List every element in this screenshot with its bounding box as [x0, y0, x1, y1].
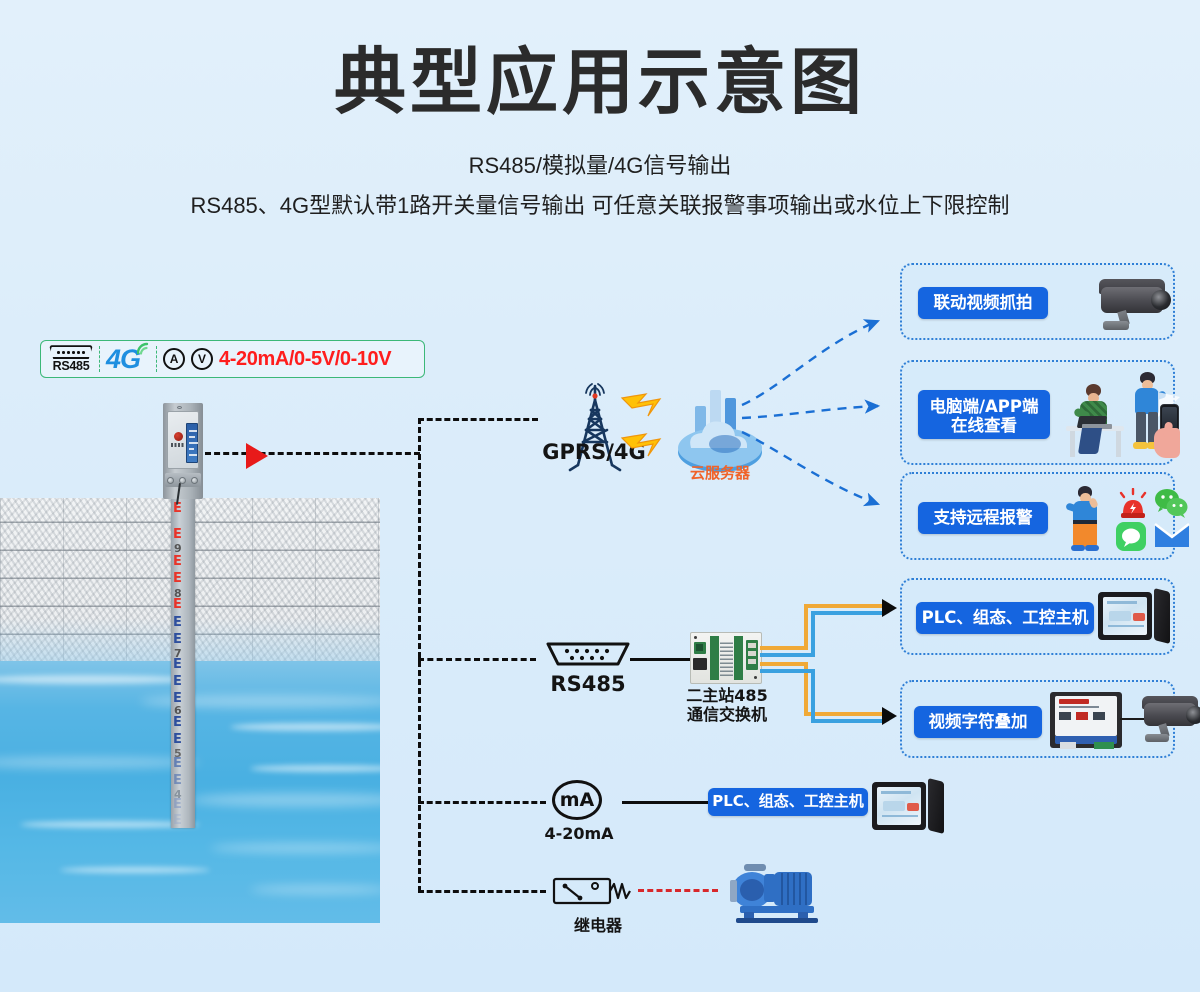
relay-symbol-icon — [552, 874, 644, 908]
switch-label-line2: 通信交换机 — [686, 705, 768, 724]
sensor-bolt-left — [167, 477, 174, 484]
cloud-to-panels-arrows — [740, 280, 915, 540]
badge-divider-1 — [99, 346, 100, 372]
inline-tag-plc-ma: PLC、组态、工控主机 — [708, 788, 868, 816]
branch-line-ma — [418, 801, 546, 804]
ma-label: 4-20mA — [538, 824, 620, 843]
wechat-icon — [1154, 488, 1188, 518]
person-phone-icon — [1124, 370, 1180, 462]
branch-line-gprs — [418, 418, 538, 421]
industrial-monitor-icon-2 — [872, 778, 958, 840]
signal-output-badge: RS485 4G A V 4-20mA/0-5V/0-10V — [40, 340, 425, 378]
person-calling-icon — [1062, 484, 1112, 556]
sensor-bolt-right — [191, 477, 198, 484]
rs485-connector-icon-large — [545, 640, 631, 670]
panel-tag-video-capture: 联动视频抓拍 — [918, 287, 1048, 319]
volt-icon: V — [191, 348, 213, 370]
sensor-brand-logo — [174, 432, 183, 441]
panel-remote-alarm[interactable]: 支持远程报警 — [900, 472, 1175, 560]
cctv-camera-icon-2 — [1140, 692, 1200, 748]
ma-to-plc-line — [622, 801, 708, 804]
branch-line-relay — [418, 890, 546, 893]
panel-video-capture[interactable]: 联动视频抓拍 — [900, 263, 1175, 340]
panel-tag-remote-alarm: 支持远程报警 — [918, 502, 1048, 534]
panel-video-osd[interactable]: 视频字符叠加 — [900, 680, 1175, 758]
rs485-node-label: RS485 — [545, 672, 631, 696]
rs485-badge-label: RS485 — [53, 360, 90, 373]
rs485-connector-icon: RS485 — [49, 345, 93, 373]
branch-line-rs485 — [418, 658, 536, 661]
sensor-brand-text — [171, 443, 185, 447]
panel-tag-pc-app-line2: 在线查看 — [918, 416, 1050, 435]
industrial-monitor-icon-1 — [1098, 588, 1178, 650]
relay-to-pump-line — [638, 889, 718, 892]
panel-tag-pc-app-line1: 电脑端/APP端 — [918, 397, 1050, 416]
osd-module-icon — [1050, 692, 1122, 750]
panel-tag-pc-app: 电脑端/APP端 在线查看 — [918, 390, 1050, 439]
ma-symbol-text: mA — [552, 780, 602, 820]
switch-label-line1: 二主站485 — [686, 686, 768, 705]
subtitle-line-1: RS485/模拟量/4G信号输出 — [0, 148, 1200, 180]
water-pump-icon — [722, 862, 832, 928]
red-flow-arrow — [246, 443, 268, 469]
sensor-to-trunk-line — [205, 452, 420, 455]
ma-symbol-icon: mA — [552, 780, 604, 822]
diagram-canvas: 典型应用示意图 RS485/模拟量/4G信号输出 RS485、4G型默认带1路开… — [0, 0, 1200, 992]
cable-arrow-plc — [882, 599, 897, 617]
cable-arrow-osd — [882, 707, 897, 725]
sms-icon — [1116, 522, 1148, 552]
cctv-camera-icon-1 — [1077, 275, 1172, 333]
water-level-sensor — [163, 403, 203, 499]
rs485-switch-device — [690, 632, 762, 684]
panel-plc-hmi[interactable]: PLC、组态、工控主机 — [900, 578, 1175, 655]
sensor-display — [186, 423, 198, 463]
panel-tag-video-osd: 视频字符叠加 — [914, 706, 1042, 738]
badge-divider-2 — [156, 346, 157, 372]
sensor-top-screw — [177, 406, 182, 409]
subtitle-line-2: RS485、4G型默认带1路开关量信号输出 可任意关联报警事项输出或水位上下限控… — [0, 188, 1200, 220]
fourg-icon: 4G — [106, 344, 150, 375]
panel-tag-plc-hmi: PLC、组态、工控主机 — [916, 602, 1094, 634]
water-scene: E E 9 E E 8 E E E 7 E E E 6 E E 5 E E 4 … — [0, 498, 380, 923]
fourg-label: 4G — [106, 344, 140, 374]
email-icon — [1154, 522, 1190, 550]
sensor-front-face — [167, 411, 199, 469]
rs485-to-switch-line — [630, 658, 692, 661]
switch-label: 二主站485 通信交换机 — [686, 686, 768, 724]
signal-range-label: 4-20mA/0-5V/0-10V — [219, 348, 391, 371]
trunk-line — [418, 418, 421, 892]
alarm-siren-icon — [1116, 488, 1150, 520]
page-title: 典型应用示意图 — [0, 46, 1200, 118]
person-laptop-icon — [1060, 380, 1132, 460]
ampere-icon: A — [163, 348, 185, 370]
panel-pc-app[interactable]: 电脑端/APP端 在线查看 — [900, 360, 1175, 465]
relay-label: 继电器 — [548, 912, 648, 936]
staff-gauge: E E 9 E E 8 E E E 7 E E E 6 E E 5 E E 4 … — [171, 498, 195, 828]
